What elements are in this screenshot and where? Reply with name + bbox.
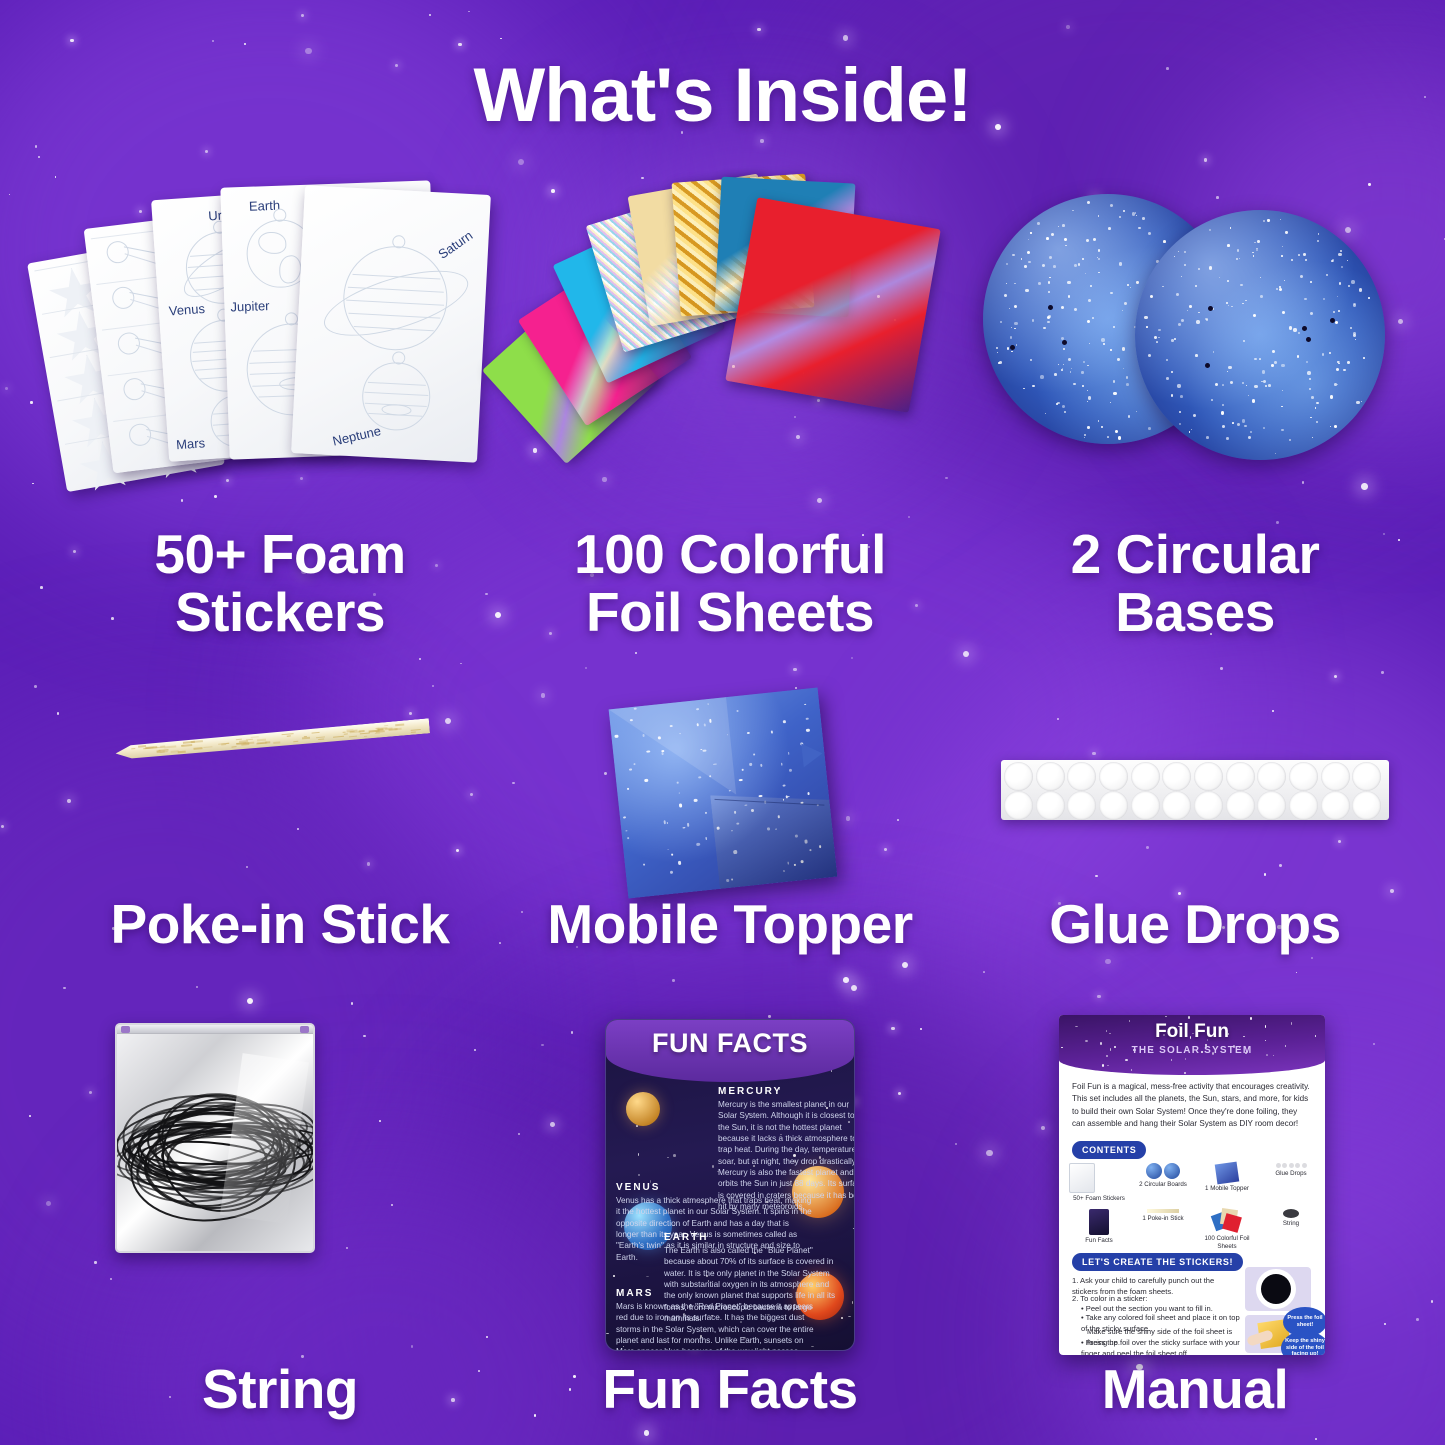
circular-bases-image	[955, 170, 1435, 520]
item-poke-in-stick: Poke-in Stick	[40, 690, 520, 980]
contents-thumb	[1069, 1163, 1129, 1193]
fun-facts-title: FUN FACTS	[606, 1028, 854, 1059]
contents-label: Fun Facts	[1069, 1237, 1129, 1245]
caption-mobile-topper: Mobile Topper	[490, 895, 970, 953]
manual-subtitle: THE SOLAR SYSTEM	[1059, 1045, 1325, 1056]
callout-shiny-side: Keep the shiny side of the foil facing u…	[1281, 1331, 1325, 1355]
contents-thumb	[1069, 1209, 1129, 1235]
item-fun-facts: FUN FACTSMERCURYMercury is the smallest …	[490, 1015, 970, 1435]
caption-fun-facts: Fun Facts	[490, 1360, 970, 1418]
contents-item: 1 Poke-in Stick	[1133, 1209, 1193, 1223]
contents-item: String	[1261, 1209, 1321, 1228]
item-foam-stickers: UranusVenusMarsEarthJupiterSaturnNeptune…	[40, 170, 520, 650]
contents-item: 100 Colorful Foil Sheets	[1197, 1209, 1257, 1251]
contents-thumb	[1197, 1163, 1257, 1183]
fun-facts-card-image: FUN FACTSMERCURYMercury is the smallest …	[490, 1015, 970, 1355]
contents-item: 50+ Foam Stickers	[1069, 1163, 1129, 1203]
fun-fact-name: EARTH	[664, 1232, 836, 1243]
contents-label: 50+ Foam Stickers	[1069, 1195, 1129, 1203]
item-string: String	[40, 1015, 520, 1435]
glue-drops-image	[955, 690, 1435, 890]
contents-label: String	[1261, 1220, 1321, 1228]
caption-circular-bases: 2 Circular Bases	[955, 525, 1435, 642]
contents-item: 1 Mobile Topper	[1197, 1163, 1257, 1193]
caption-manual: Manual	[955, 1360, 1435, 1418]
contents-label: 100 Colorful Foil Sheets	[1197, 1235, 1257, 1251]
item-foil-sheets: 100 Colorful Foil Sheets	[490, 170, 970, 650]
caption-string: String	[40, 1360, 520, 1418]
manual-intro: Foil Fun is a magical, mess-free activit…	[1072, 1081, 1312, 1130]
foil-sheets-image	[490, 170, 970, 520]
manual-image: Foil FunTHE SOLAR SYSTEMFoil Fun is a ma…	[955, 1015, 1435, 1355]
figure-punch-out	[1245, 1267, 1311, 1311]
contents-thumb	[1133, 1209, 1193, 1213]
contents-thumb	[1197, 1209, 1257, 1233]
contents-item: Glue Drops	[1261, 1163, 1321, 1178]
contents-label: 1 Poke-in Stick	[1133, 1215, 1193, 1223]
item-mobile-topper: Mobile Topper	[490, 690, 970, 980]
steps-heading: LET'S CREATE THE STICKERS!	[1072, 1253, 1243, 1271]
contents-label: 1 Mobile Topper	[1197, 1185, 1257, 1193]
mobile-topper-image	[490, 690, 970, 890]
caption-foam-stickers: 50+ Foam Stickers	[40, 525, 520, 642]
item-circular-bases: 2 Circular Bases	[955, 170, 1435, 650]
fun-fact-name: MERCURY	[718, 1086, 855, 1097]
item-manual: Foil FunTHE SOLAR SYSTEMFoil Fun is a ma…	[955, 1015, 1435, 1435]
caption-glue-drops: Glue Drops	[955, 895, 1435, 953]
contents-label: Glue Drops	[1261, 1170, 1321, 1178]
contents-thumb	[1261, 1209, 1321, 1218]
contents-heading: CONTENTS	[1072, 1141, 1146, 1159]
contents-item: 2 Circular Boards	[1133, 1163, 1193, 1189]
contents-item: Fun Facts	[1069, 1209, 1129, 1245]
caption-poke-in-stick: Poke-in Stick	[40, 895, 520, 953]
fun-fact-section: MARSMars is known as the "Red Planet" be…	[616, 1288, 816, 1351]
page-title: What's Inside!	[0, 52, 1445, 139]
contents-thumb	[1261, 1163, 1321, 1168]
contents-label: 2 Circular Boards	[1133, 1181, 1193, 1189]
fun-fact-name: VENUS	[616, 1182, 812, 1193]
fun-fact-name: MARS	[616, 1288, 816, 1299]
caption-foil-sheets: 100 Colorful Foil Sheets	[490, 525, 970, 642]
item-glue-drops: Glue Drops	[955, 690, 1435, 980]
manual-logo: Foil Fun	[1059, 1021, 1325, 1043]
poke-in-stick-image	[40, 690, 520, 890]
manual-step: • Press the foil over the sticky surface…	[1081, 1337, 1240, 1355]
contents-thumb	[1133, 1163, 1193, 1179]
foam-sticker-sheets-image: UranusVenusMarsEarthJupiterSaturnNeptune	[40, 170, 520, 520]
string-image	[40, 1015, 520, 1355]
fun-fact-body: Mars is known as the "Red Planet" becaus…	[616, 1301, 816, 1351]
